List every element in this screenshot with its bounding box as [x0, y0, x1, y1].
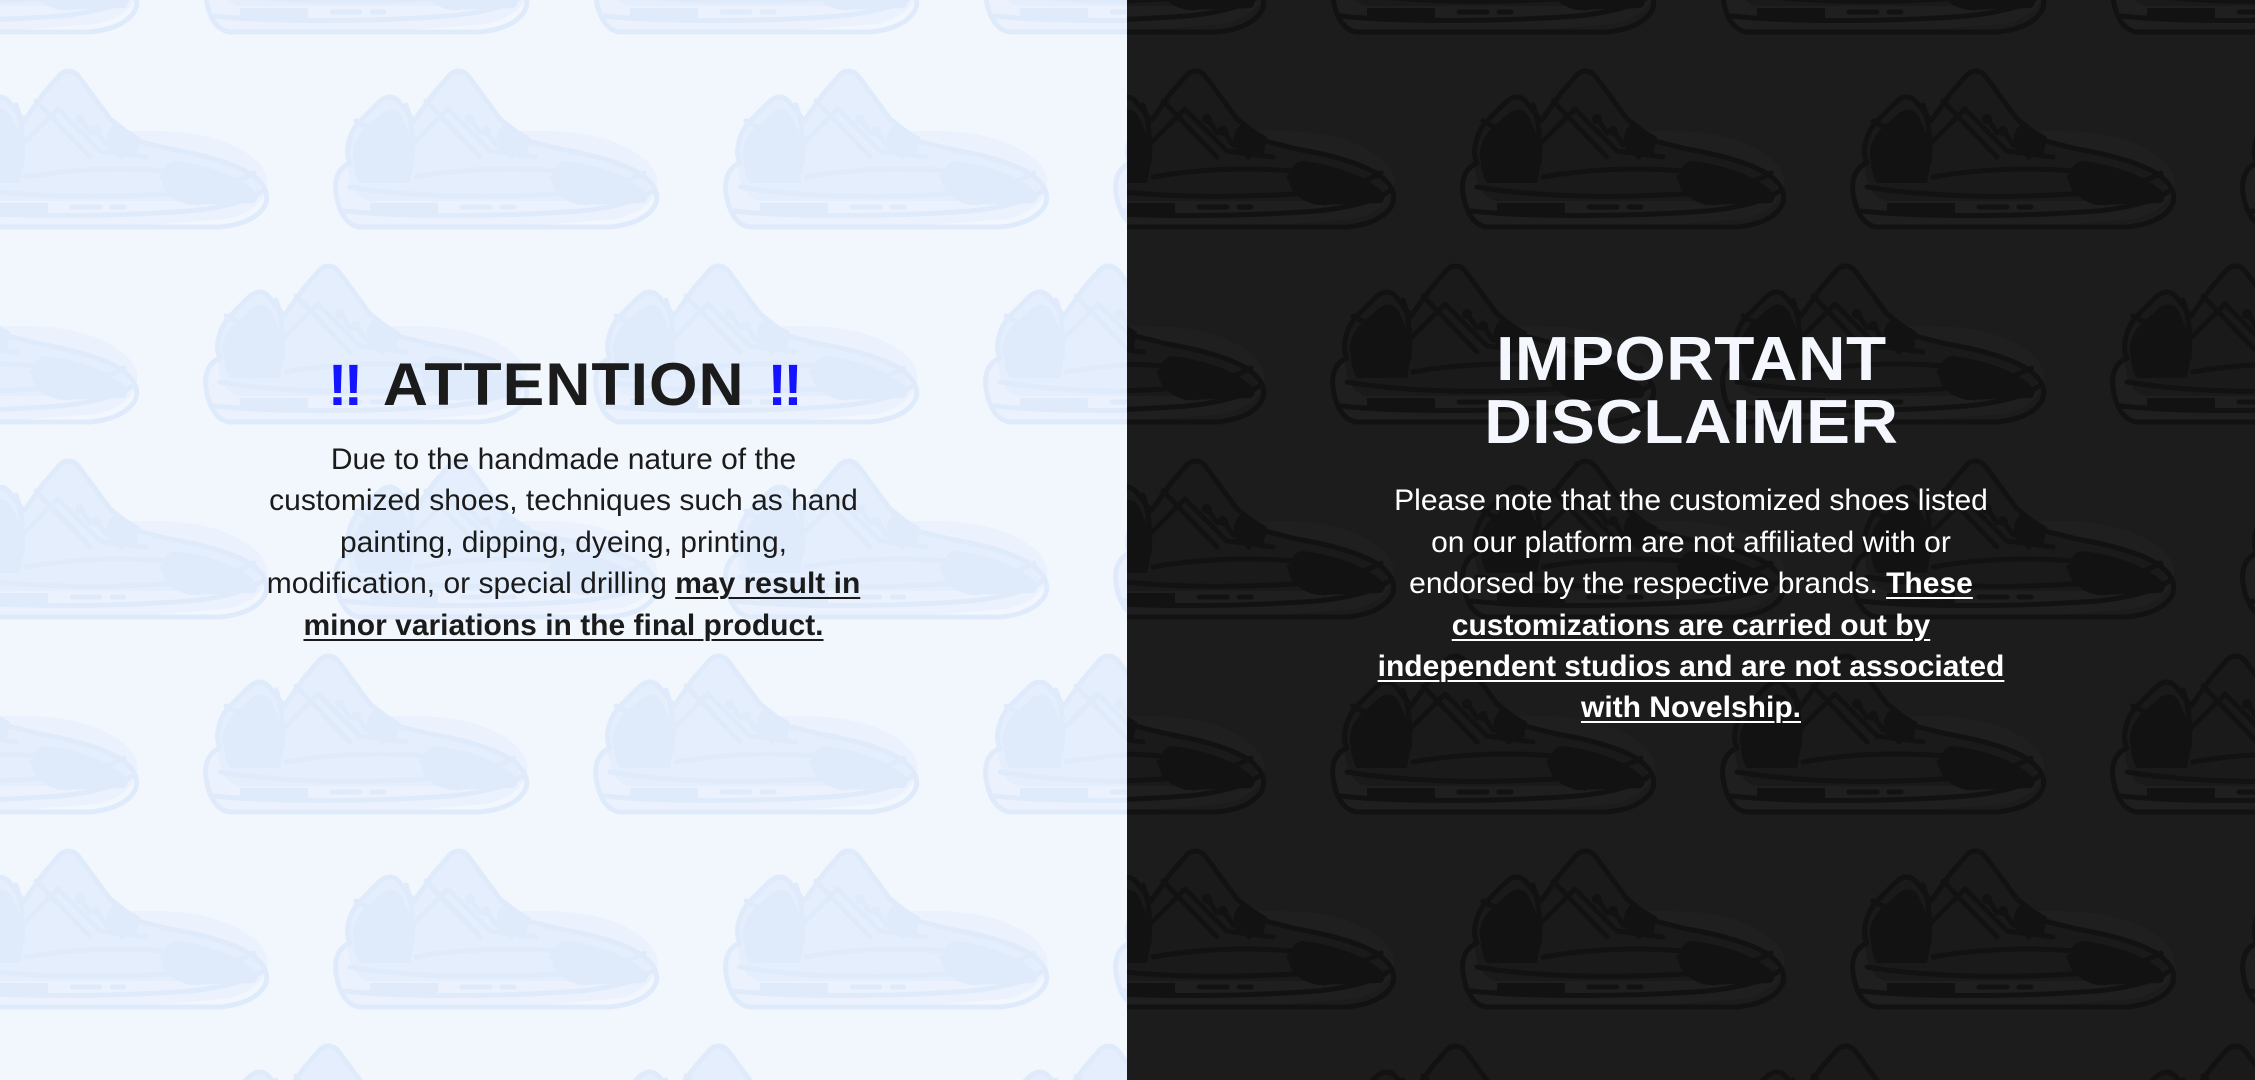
double-exclamation-icon-right: ‼ — [767, 356, 799, 415]
double-exclamation-icon-left: ‼ — [328, 356, 360, 415]
attention-panel: ‼ ATTENTION ‼ Due to the handmade nature… — [0, 0, 1127, 1080]
disclaimer-heading: IMPORTANT DISCLAIMER — [1484, 328, 1898, 454]
disclaimer-body: Please note that the customized shoes li… — [1376, 480, 2006, 728]
attention-content: ‼ ATTENTION ‼ Due to the handmade nature… — [0, 0, 1127, 1080]
attention-body: Due to the handmade nature of the custom… — [254, 439, 874, 646]
disclaimer-heading-line2: DISCLAIMER — [1484, 391, 1898, 454]
disclaimer-content: IMPORTANT DISCLAIMER Please note that th… — [1127, 0, 2255, 1080]
disclaimer-panel: IMPORTANT DISCLAIMER Please note that th… — [1127, 0, 2255, 1080]
disclaimer-heading-line1: IMPORTANT — [1484, 328, 1898, 391]
disclaimer-banner: ‼ ATTENTION ‼ Due to the handmade nature… — [0, 0, 2255, 1080]
attention-heading: ‼ ATTENTION ‼ — [328, 355, 800, 415]
attention-heading-text: ATTENTION — [383, 355, 745, 415]
